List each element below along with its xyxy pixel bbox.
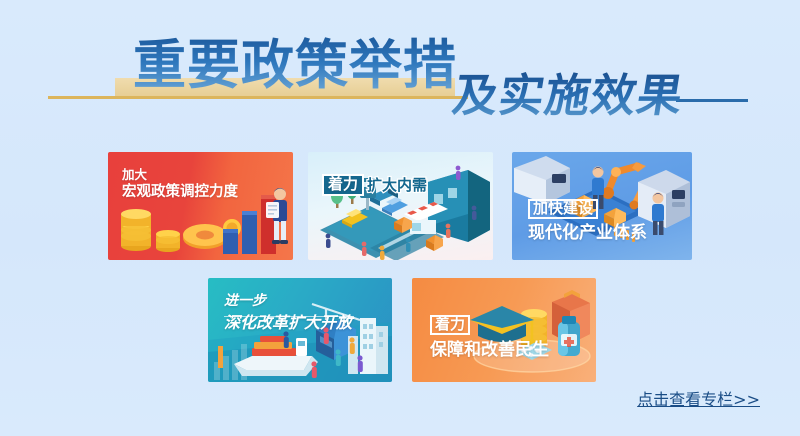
poster-header: 重要政策举措 及实施效果 — [0, 0, 800, 140]
card-macro-policy[interactable]: 加大 宏观政策调控力度 — [108, 152, 293, 260]
card-modern-industry-line2: 现代化产业体系 — [528, 223, 647, 243]
card-domestic-demand-tag: 着力 — [322, 174, 364, 196]
card-peoples-livelihood-tag: 着力 — [430, 315, 470, 335]
card-peoples-livelihood-line2: 保障和改善民生 — [430, 340, 549, 360]
card-reform-opening-line1: 进一步 — [224, 292, 352, 310]
title-blue-rule — [676, 99, 748, 102]
card-peoples-livelihood-tagwrap: 着力 — [430, 315, 473, 333]
card-reform-opening-caption: 进一步 深化改革扩大开放 — [224, 292, 352, 332]
card-domestic-demand-line2: 扩大内需 — [367, 176, 427, 194]
card-domestic-demand-illustration — [308, 152, 493, 260]
card-reform-opening-divider — [224, 316, 354, 317]
card-peoples-livelihood[interactable]: 着力 保障和改善民生 — [412, 278, 596, 382]
card-modern-industry-caption: 加快建设 现代化产业体系 — [528, 198, 647, 243]
isometric-city-art — [308, 152, 493, 260]
card-reform-opening[interactable]: 进一步 深化改革扩大开放 — [208, 278, 392, 382]
card-modern-industry-line1: 加快建设 — [528, 199, 598, 219]
card-macro-policy-line1: 加大 — [122, 166, 238, 183]
poster-canvas: 重要政策举措 及实施效果 — [0, 0, 800, 436]
card-domestic-demand-caption: 着力扩大内需 — [322, 174, 427, 196]
card-macro-policy-line2: 宏观政策调控力度 — [122, 184, 238, 201]
view-column-link[interactable]: 点击查看专栏>> — [637, 386, 760, 410]
card-modern-industry[interactable]: 加快建设 现代化产业体系 — [512, 152, 692, 260]
card-macro-policy-caption: 加大 宏观政策调控力度 — [122, 166, 238, 201]
title-gold-rule — [48, 96, 468, 99]
card-domestic-demand[interactable]: 着力扩大内需 — [308, 152, 493, 260]
page-title-line-1: 重要政策举措 — [133, 36, 457, 96]
card-peoples-livelihood-caption: 着力 保障和改善民生 — [430, 314, 549, 360]
page-title-line-2: 及实施效果 — [449, 70, 687, 122]
